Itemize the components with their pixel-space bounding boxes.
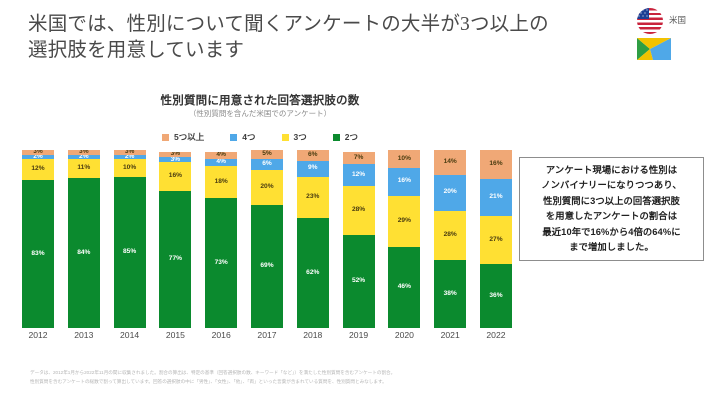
legend-item-3[interactable]: 2つ (333, 131, 358, 143)
bar-column-2022[interactable]: 16%21%27%36% (480, 150, 512, 328)
bar-segment: 18% (205, 166, 237, 198)
x-axis-tick-2015: 2015 (159, 330, 191, 348)
bar-column-2015[interactable]: 3%3%16%77% (159, 150, 191, 328)
bar-segment: 28% (434, 211, 466, 261)
legend-label: 2つ (345, 131, 358, 143)
bar-segment: 20% (434, 175, 466, 211)
bar-segment: 23% (297, 177, 329, 218)
bar-column-2020[interactable]: 10%16%29%46% (388, 150, 420, 328)
bar-segment: 7% (343, 152, 375, 164)
legend-swatch-icon (230, 134, 237, 141)
bar-segment: 4% (205, 159, 237, 166)
bar-segment: 10% (114, 159, 146, 177)
bar-segment: 14% (434, 150, 466, 175)
x-axis-tick-2014: 2014 (114, 330, 146, 348)
x-axis-tick-2017: 2017 (251, 330, 283, 348)
x-axis-tick-2019: 2019 (343, 330, 375, 348)
legend-label: 5つ以上 (174, 131, 204, 143)
bar-segment: 27% (480, 216, 512, 264)
bar-column-2013[interactable]: 3%2%11%84% (68, 150, 100, 328)
chart-subtitle: （性別質問を含んだ米国でのアンケート） (0, 108, 520, 119)
x-axis-tick-2021: 2021 (434, 330, 466, 348)
legend-label: 4つ (242, 131, 255, 143)
bar-segment: 11% (68, 159, 100, 179)
bar-segment: 73% (205, 198, 237, 328)
legend-swatch-icon (282, 134, 289, 141)
x-axis-tick-2012: 2012 (22, 330, 54, 348)
bar-segment: 12% (22, 159, 54, 180)
bar-segment: 62% (297, 218, 329, 328)
legend-label: 3つ (294, 131, 307, 143)
bar-segment: 6% (251, 159, 283, 170)
bar-segment: 28% (343, 186, 375, 236)
footnote: データは、2012年1月から2022年11月の間に収集されました。割合の算出は、… (30, 369, 670, 386)
x-axis-ticks: 2012201320142015201620172018201920202021… (22, 330, 512, 348)
bar-column-2021[interactable]: 14%20%28%38% (434, 150, 466, 328)
x-axis-tick-2013: 2013 (68, 330, 100, 348)
page-header: 米国では、性別について聞くアンケートの大半が3つ以上の 選択肢を用意しています … (0, 0, 711, 72)
legend-item-2[interactable]: 3つ (282, 131, 307, 143)
legend-item-1[interactable]: 4つ (230, 131, 255, 143)
page-title: 米国では、性別について聞くアンケートの大半が3つ以上の 選択肢を用意しています (28, 12, 588, 64)
x-axis-tick-2018: 2018 (297, 330, 329, 348)
country-label: 米国 (669, 14, 686, 26)
bar-segment: 12% (343, 164, 375, 185)
us-flag-circle-icon (637, 8, 663, 34)
x-axis-tick-2022: 2022 (480, 330, 512, 348)
bar-segment: 5% (251, 150, 283, 159)
stacked-bar-plot: 3%2%12%83%3%2%11%84%3%2%10%85%3%3%16%77%… (22, 150, 512, 328)
legend-swatch-icon (162, 134, 169, 141)
bar-segment: 10% (388, 150, 420, 168)
bar-segment: 20% (251, 170, 283, 206)
bar-column-2017[interactable]: 5%6%20%69% (251, 150, 283, 328)
callout-box: アンケート現場における性別は ノンバイナリーになりつつあり、 性別質問に3つ以上… (519, 157, 704, 261)
legend-item-0[interactable]: 5つ以上 (162, 131, 204, 143)
bar-segment: 69% (251, 205, 283, 328)
bar-segment: 52% (343, 235, 375, 328)
bar-segment: 9% (297, 161, 329, 177)
bar-column-2012[interactable]: 3%2%12%83% (22, 150, 54, 328)
x-axis-tick-2016: 2016 (205, 330, 237, 348)
brand-triangle-logo-icon (637, 38, 671, 60)
bar-segment: 29% (388, 196, 420, 247)
bar-segment: 84% (68, 178, 100, 328)
bar-segment: 16% (480, 150, 512, 178)
bar-segment: 16% (388, 168, 420, 196)
bar-segment: 85% (114, 177, 146, 328)
brand-block: 米国 (635, 6, 703, 62)
bar-segment: 36% (480, 264, 512, 328)
chart-legend: 5つ以上4つ3つ2つ (0, 130, 520, 144)
chart-card: 性別質問に用意された回答選択肢の数 （性別質問を含んだ米国でのアンケート） 5つ… (0, 72, 520, 362)
bar-segment: 46% (388, 247, 420, 328)
x-axis-tick-2020: 2020 (388, 330, 420, 348)
bar-segment: 83% (22, 180, 54, 328)
bar-column-2016[interactable]: 4%4%18%73% (205, 150, 237, 328)
bar-segment: 77% (159, 191, 191, 328)
bar-segment: 6% (297, 150, 329, 161)
callout-text: アンケート現場における性別は ノンバイナリーになりつつあり、 性別質問に3つ以上… (530, 163, 693, 256)
legend-swatch-icon (333, 134, 340, 141)
bar-column-2019[interactable]: 7%12%28%52% (343, 150, 375, 328)
bar-column-2014[interactable]: 3%2%10%85% (114, 150, 146, 328)
chart-title: 性別質問に用意された回答選択肢の数 (0, 92, 520, 108)
bar-segment: 4% (205, 152, 237, 159)
bar-segment: 21% (480, 179, 512, 216)
bar-column-2018[interactable]: 6%9%23%62% (297, 150, 329, 328)
bar-segment: 16% (159, 162, 191, 190)
bar-segment: 38% (434, 260, 466, 328)
